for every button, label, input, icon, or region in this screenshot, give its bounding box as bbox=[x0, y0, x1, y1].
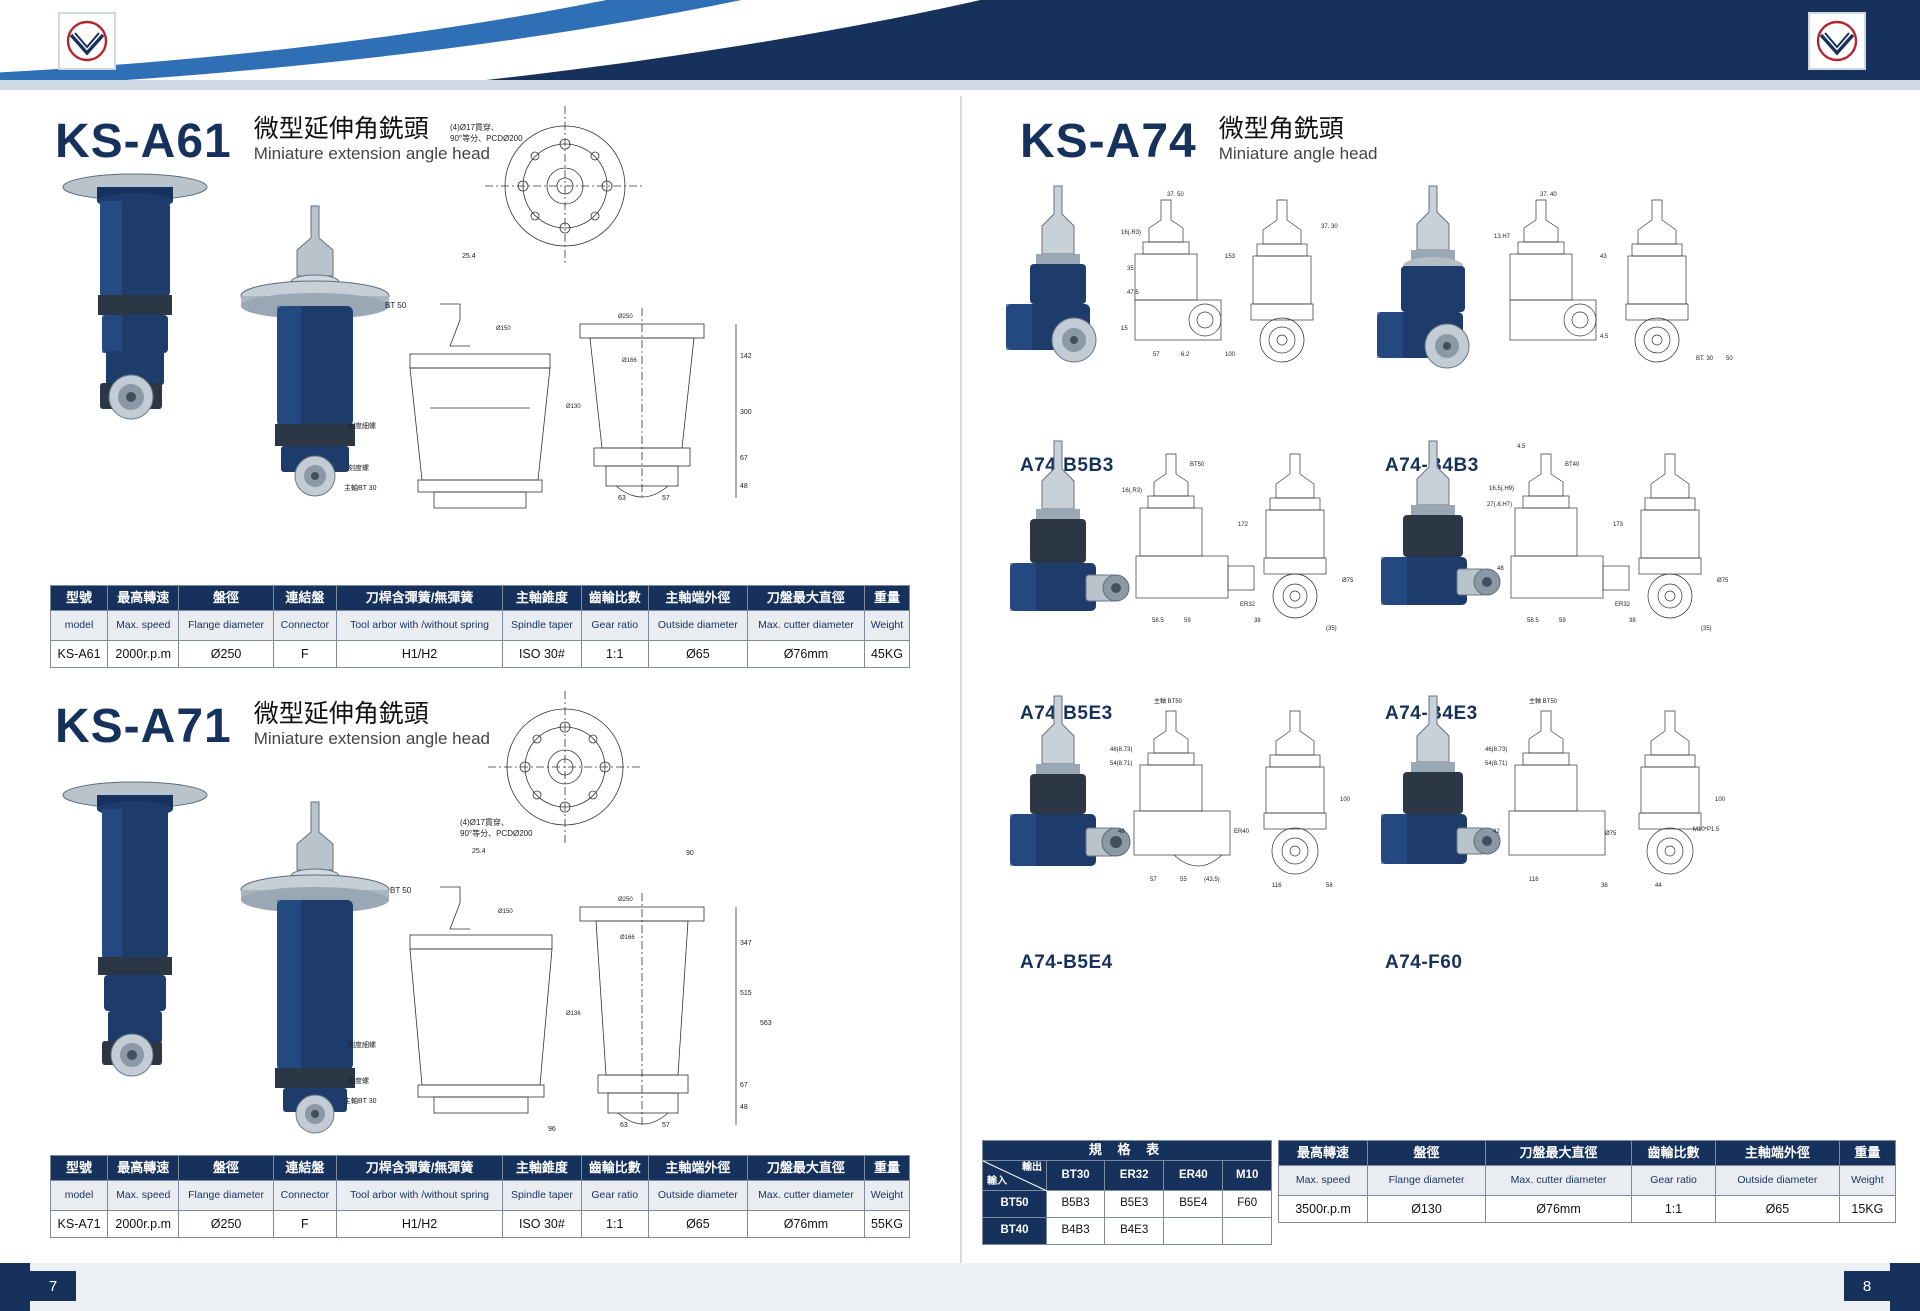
th-en-0: model bbox=[51, 1181, 108, 1211]
th-cn-2: 盤徑 bbox=[179, 1156, 273, 1181]
td-4: H1/H2 bbox=[336, 1211, 502, 1238]
product-heading-ks-a74: KS-A74 微型角銑頭 Miniature angle head bbox=[1020, 115, 1378, 166]
table-header-row-en: Max. speed Flange diameter Max. cutter d… bbox=[1279, 1166, 1896, 1196]
th-cn-7: 主軸端外徑 bbox=[648, 586, 747, 611]
svg-text:38: 38 bbox=[1601, 883, 1608, 889]
svg-text:46(8.73): 46(8.73) bbox=[1485, 747, 1507, 753]
td-0: KS-A61 bbox=[51, 641, 108, 668]
svg-text:主軸 BT50: 主軸 BT50 bbox=[1529, 697, 1558, 705]
svg-text:Ø75: Ø75 bbox=[1342, 578, 1354, 584]
page-number-left: 7 bbox=[30, 1271, 76, 1301]
th-en-4: Tool arbor with /without spring bbox=[336, 1181, 502, 1211]
td-9: 55KG bbox=[864, 1211, 909, 1238]
product-title-en: Miniature angle head bbox=[1219, 144, 1378, 164]
technical-drawing-a74-b5b3: 37. 50 16(.R3) 35 47.5 15 57 6.2 153 100… bbox=[1125, 198, 1375, 393]
table-row: BT40 B4B3 B4E3 bbox=[983, 1217, 1272, 1244]
svg-text:50: 50 bbox=[1726, 356, 1733, 362]
matrix-row-head-0: BT50 bbox=[983, 1190, 1047, 1217]
svg-text:Ø250: Ø250 bbox=[618, 897, 633, 903]
left-page: KS-A61 微型延伸角銑頭 Miniature extension angle… bbox=[0, 90, 960, 1270]
svg-text:59: 59 bbox=[1184, 618, 1191, 624]
th-en-8: Max. cutter diameter bbox=[747, 611, 864, 641]
table-header-row-cn: 最高轉速 盤徑 刀盤最大直徑 齒輪比數 主軸端外徑 重量 bbox=[1279, 1141, 1896, 1166]
product-code: KS-A71 bbox=[55, 703, 232, 751]
product-photo-ks-a61-left bbox=[40, 165, 230, 460]
matrix-cell-0-2: B5E4 bbox=[1164, 1190, 1223, 1217]
technical-drawing-a74-f60: 主軸 BT50 46(8.73) 54(8.71) 42 Ø75 116 M10… bbox=[1505, 705, 1755, 910]
table-row: BT50 B5B3 B5E3 B5E4 F60 bbox=[983, 1190, 1272, 1217]
td-2: Ø250 bbox=[179, 1211, 273, 1238]
product-photo-a74-b5e4 bbox=[990, 690, 1135, 910]
svg-text:90°等分、PCDØ200: 90°等分、PCDØ200 bbox=[460, 828, 533, 838]
td-4: Ø65 bbox=[1716, 1196, 1840, 1223]
th-cn-2: 刀盤最大直徑 bbox=[1485, 1141, 1631, 1166]
spec-table-ks-a61: 型號 最高轉速 盤徑 連結盤 刀桿含彈簧/無彈簧 主軸錐度 齒輪比數 主軸端外徑… bbox=[50, 585, 910, 668]
matrix-col-3: M10 bbox=[1223, 1160, 1272, 1190]
svg-text:16(.R3): 16(.R3) bbox=[1122, 488, 1142, 494]
technical-drawing-ks-a61: (4)Ø17貫穿、 90°等分、PCDØ200 25.4 BT 50 刻度細螺 … bbox=[440, 108, 840, 513]
th-en-6: Gear ratio bbox=[581, 1181, 648, 1211]
matrix-col-0: BT30 bbox=[1047, 1160, 1105, 1190]
th-en-0: model bbox=[51, 611, 108, 641]
svg-text:90: 90 bbox=[686, 850, 694, 857]
matrix-cell-1-0: B4B3 bbox=[1047, 1217, 1105, 1244]
svg-text:54(8.71): 54(8.71) bbox=[1110, 761, 1132, 767]
th-cn-7: 主軸端外徑 bbox=[648, 1156, 747, 1181]
product-heading-ks-a61: KS-A61 微型延伸角銑頭 Miniature extension angle… bbox=[55, 115, 490, 166]
svg-text:35: 35 bbox=[1127, 266, 1134, 272]
td-1: 2000r.p.m bbox=[108, 641, 179, 668]
matrix-cell-1-3 bbox=[1223, 1217, 1272, 1244]
matrix-title: 規 格 表 bbox=[983, 1141, 1272, 1161]
th-cn-3: 連結盤 bbox=[273, 586, 336, 611]
svg-text:ER32: ER32 bbox=[1615, 602, 1631, 608]
svg-text:(43.5): (43.5) bbox=[1204, 877, 1220, 883]
header-band bbox=[0, 0, 1920, 90]
svg-text:4.5: 4.5 bbox=[1600, 334, 1609, 340]
svg-text:Ø75: Ø75 bbox=[1717, 578, 1729, 584]
table-header-row-en: model Max. speed Flange diameter Connect… bbox=[51, 1181, 910, 1211]
svg-text:46(8.73): 46(8.73) bbox=[1110, 747, 1132, 753]
spec-matrix-table: 規 格 表 輸入 輸出 BT30 ER32 ER40 M10 BT50 B5B3… bbox=[982, 1140, 1272, 1245]
th-cn-5: 主軸錐度 bbox=[503, 586, 581, 611]
matrix-cell-0-3: F60 bbox=[1223, 1190, 1272, 1217]
svg-text:57: 57 bbox=[662, 1122, 670, 1129]
svg-text:(35): (35) bbox=[1701, 626, 1712, 632]
th-cn-8: 刀盤最大直徑 bbox=[747, 1156, 864, 1181]
th-en-2: Flange diameter bbox=[179, 611, 273, 641]
td-1: Ø130 bbox=[1368, 1196, 1486, 1223]
product-photo-a74-b5b3 bbox=[990, 180, 1130, 395]
svg-text:90°等分、PCDØ200: 90°等分、PCDØ200 bbox=[450, 133, 523, 143]
svg-text:(35): (35) bbox=[1326, 626, 1337, 632]
svg-text:63: 63 bbox=[618, 495, 626, 502]
svg-text:刻度螺: 刻度螺 bbox=[348, 463, 369, 472]
product-photo-ks-a71-left bbox=[40, 775, 230, 1110]
th-en-2: Max. cutter diameter bbox=[1485, 1166, 1631, 1196]
table-header-row-en: model Max. speed Flange diameter Connect… bbox=[51, 611, 910, 641]
svg-text:57: 57 bbox=[662, 495, 670, 502]
th-en-3: Connector bbox=[273, 1181, 336, 1211]
th-cn-2: 盤徑 bbox=[179, 586, 273, 611]
td-3: 1:1 bbox=[1632, 1196, 1716, 1223]
technical-drawing-a74-b5e3: BT50 16(.R3) ER32 58.5 59 172 38 Ø75 (35… bbox=[1130, 450, 1380, 655]
svg-text:6.2: 6.2 bbox=[1181, 352, 1190, 358]
th-en-5: Weight bbox=[1839, 1166, 1895, 1196]
page-number-right: 8 bbox=[1844, 1271, 1890, 1301]
svg-text:Ø250: Ø250 bbox=[618, 314, 633, 320]
svg-text:刻度細螺: 刻度細螺 bbox=[348, 1040, 376, 1049]
table-row: KS-A71 2000r.p.m Ø250 F H1/H2 ISO 30# 1:… bbox=[51, 1211, 910, 1238]
table-row: KS-A61 2000r.p.m Ø250 F H1/H2 ISO 30# 1:… bbox=[51, 641, 910, 668]
matrix-header-row: 輸入 輸出 BT30 ER32 ER40 M10 bbox=[983, 1160, 1272, 1190]
svg-text:Ø130: Ø130 bbox=[566, 404, 581, 410]
svg-text:4.5: 4.5 bbox=[1517, 444, 1526, 450]
th-cn-6: 齒輪比數 bbox=[581, 1156, 648, 1181]
footer-band bbox=[0, 1263, 1920, 1311]
matrix-cell-1-2 bbox=[1164, 1217, 1223, 1244]
svg-text:BT. 30: BT. 30 bbox=[1696, 356, 1714, 362]
svg-text:16(.R3): 16(.R3) bbox=[1121, 230, 1141, 236]
th-en-7: Outside diameter bbox=[648, 1181, 747, 1211]
th-cn-5: 主軸錐度 bbox=[503, 1156, 581, 1181]
td-0: 3500r.p.m bbox=[1279, 1196, 1368, 1223]
svg-text:BT 50: BT 50 bbox=[390, 886, 412, 895]
th-en-9: Weight bbox=[864, 1181, 909, 1211]
th-cn-9: 重量 bbox=[864, 586, 909, 611]
table-header-row-cn: 型號 最高轉速 盤徑 連結盤 刀桿含彈簧/無彈簧 主軸錐度 齒輪比數 主軸端外徑… bbox=[51, 586, 910, 611]
svg-text:25.4: 25.4 bbox=[472, 848, 486, 855]
product-photo-a74-b4e3 bbox=[1355, 435, 1505, 655]
svg-text:48: 48 bbox=[1118, 829, 1125, 835]
svg-text:67: 67 bbox=[740, 455, 748, 462]
th-en-0: Max. speed bbox=[1279, 1166, 1368, 1196]
product-photo-a74-f60 bbox=[1355, 690, 1505, 910]
th-cn-4: 刀桿含彈簧/無彈簧 bbox=[336, 586, 502, 611]
th-cn-3: 連結盤 bbox=[273, 1156, 336, 1181]
svg-text:42: 42 bbox=[1493, 829, 1500, 835]
td-8: Ø76mm bbox=[747, 641, 864, 668]
svg-text:主軸 BT50: 主軸 BT50 bbox=[1154, 697, 1183, 705]
td-2: Ø250 bbox=[179, 641, 273, 668]
product-code: KS-A74 bbox=[1020, 118, 1197, 166]
product-title-cn: 微型角銑頭 bbox=[1219, 115, 1378, 144]
technical-drawing-a74-b4b3: 37. 40 13.H7 43 4.5 BT. 30 50 bbox=[1500, 198, 1750, 393]
th-en-4: Outside diameter bbox=[1716, 1166, 1840, 1196]
td-9: 45KG bbox=[864, 641, 909, 668]
svg-text:54(8.71): 54(8.71) bbox=[1485, 761, 1507, 767]
th-cn-6: 齒輪比數 bbox=[581, 586, 648, 611]
th-en-1: Max. speed bbox=[108, 611, 179, 641]
logo-icon bbox=[65, 19, 109, 63]
svg-text:172: 172 bbox=[1238, 522, 1249, 528]
svg-text:38: 38 bbox=[1254, 618, 1261, 624]
product-photo-a74-b4b3 bbox=[1355, 180, 1505, 395]
svg-text:Ø136: Ø136 bbox=[566, 1011, 581, 1017]
svg-text:48: 48 bbox=[740, 1104, 748, 1111]
svg-text:58.5: 58.5 bbox=[1527, 618, 1539, 624]
product-code: KS-A61 bbox=[55, 118, 232, 166]
svg-text:44: 44 bbox=[1655, 883, 1662, 889]
th-cn-1: 最高轉速 bbox=[108, 586, 179, 611]
svg-text:(4)Ø17貫穿、: (4)Ø17貫穿、 bbox=[450, 122, 499, 132]
svg-text:Ø166: Ø166 bbox=[622, 358, 637, 364]
td-3: F bbox=[273, 1211, 336, 1238]
svg-text:142: 142 bbox=[740, 353, 752, 360]
header-underline bbox=[0, 80, 1920, 90]
svg-text:63: 63 bbox=[620, 1122, 628, 1129]
td-0: KS-A71 bbox=[51, 1211, 108, 1238]
svg-text:主軸BT 30: 主軸BT 30 bbox=[344, 1096, 377, 1105]
product-heading-ks-a71: KS-A71 微型延伸角銑頭 Miniature extension angle… bbox=[55, 700, 490, 751]
matrix-cell-0-1: B5E3 bbox=[1105, 1190, 1164, 1217]
company-logo-right bbox=[1808, 12, 1866, 70]
th-cn-1: 最高轉速 bbox=[108, 1156, 179, 1181]
svg-text:刻度螺: 刻度螺 bbox=[348, 1076, 369, 1085]
svg-text:43: 43 bbox=[1600, 254, 1607, 260]
svg-text:67: 67 bbox=[740, 1082, 748, 1089]
th-cn-4: 主軸端外徑 bbox=[1716, 1141, 1840, 1166]
th-en-2: Flange diameter bbox=[179, 1181, 273, 1211]
svg-text:Ø150: Ø150 bbox=[496, 326, 511, 332]
th-cn-0: 最高轉速 bbox=[1279, 1141, 1368, 1166]
svg-text:57: 57 bbox=[1153, 352, 1160, 358]
company-logo-left bbox=[58, 12, 116, 70]
spec-table-ks-a74: 最高轉速 盤徑 刀盤最大直徑 齒輪比數 主軸端外徑 重量 Max. speed … bbox=[1278, 1140, 1896, 1223]
td-5: ISO 30# bbox=[503, 641, 581, 668]
table-row: 3500r.p.m Ø130 Ø76mm 1:1 Ø65 15KG bbox=[1279, 1196, 1896, 1223]
matrix-title-row: 規 格 表 bbox=[983, 1141, 1272, 1161]
svg-text:100: 100 bbox=[1225, 352, 1236, 358]
th-en-5: Spindle taper bbox=[503, 1181, 581, 1211]
svg-text:116: 116 bbox=[1272, 883, 1282, 889]
svg-text:100: 100 bbox=[1715, 797, 1726, 803]
svg-text:ER32: ER32 bbox=[1240, 602, 1256, 608]
svg-text:47.5: 47.5 bbox=[1127, 290, 1139, 296]
svg-text:Ø150: Ø150 bbox=[498, 909, 513, 915]
svg-text:58: 58 bbox=[1326, 883, 1333, 889]
variant-label-a74-f60: A74-F60 bbox=[1385, 952, 1462, 974]
th-en-1: Flange diameter bbox=[1368, 1166, 1486, 1196]
th-en-4: Tool arbor with /without spring bbox=[336, 611, 502, 641]
svg-text:ER40: ER40 bbox=[1234, 829, 1250, 835]
td-3: F bbox=[273, 641, 336, 668]
td-4: H1/H2 bbox=[336, 641, 502, 668]
svg-text:主軸BT 30: 主軸BT 30 bbox=[344, 483, 377, 492]
svg-text:48: 48 bbox=[740, 483, 748, 490]
th-en-6: Gear ratio bbox=[581, 611, 648, 641]
th-en-8: Max. cutter diameter bbox=[747, 1181, 864, 1211]
td-1: 2000r.p.m bbox=[108, 1211, 179, 1238]
matrix-row-head-1: BT40 bbox=[983, 1217, 1047, 1244]
svg-text:(4)Ø17貫穿、: (4)Ø17貫穿、 bbox=[460, 817, 509, 827]
th-cn-0: 型號 bbox=[51, 1156, 108, 1181]
svg-text:25.4: 25.4 bbox=[462, 253, 476, 260]
svg-text:BT50: BT50 bbox=[1190, 462, 1205, 468]
th-cn-8: 刀盤最大直徑 bbox=[747, 586, 864, 611]
svg-text:153: 153 bbox=[1225, 254, 1236, 260]
svg-text:刻度細螺: 刻度細螺 bbox=[348, 421, 376, 430]
svg-text:58.5: 58.5 bbox=[1152, 618, 1164, 624]
svg-text:15: 15 bbox=[1121, 326, 1128, 332]
svg-text:55: 55 bbox=[1180, 877, 1187, 883]
th-cn-3: 齒輪比數 bbox=[1632, 1141, 1716, 1166]
spec-table-ks-a71: 型號 最高轉速 盤徑 連結盤 刀桿含彈簧/無彈簧 主軸錐度 齒輪比數 主軸端外徑… bbox=[50, 1155, 910, 1238]
td-2: Ø76mm bbox=[1485, 1196, 1631, 1223]
th-en-5: Spindle taper bbox=[503, 611, 581, 641]
product-photo-ks-a61-right bbox=[215, 198, 415, 503]
td-5: 15KG bbox=[1839, 1196, 1895, 1223]
product-photo-ks-a71-right bbox=[215, 798, 415, 1143]
svg-text:300: 300 bbox=[740, 409, 752, 416]
svg-text:57: 57 bbox=[1150, 877, 1157, 883]
th-cn-9: 重量 bbox=[864, 1156, 909, 1181]
td-7: Ø65 bbox=[648, 641, 747, 668]
matrix-cell-1-1: B4E3 bbox=[1105, 1217, 1164, 1244]
th-en-3: Connector bbox=[273, 611, 336, 641]
matrix-col-1: ER32 bbox=[1105, 1160, 1164, 1190]
svg-text:116: 116 bbox=[1529, 877, 1539, 883]
technical-drawing-a74-b5e4: 主軸 BT50 46(8.73) 54(8.71) ER40 57 55 (43… bbox=[1130, 705, 1380, 910]
svg-text:563: 563 bbox=[760, 1020, 772, 1027]
td-6: 1:1 bbox=[581, 641, 648, 668]
variant-label-a74-b5e4: A74-B5E4 bbox=[1020, 952, 1113, 974]
td-6: 1:1 bbox=[581, 1211, 648, 1238]
th-en-1: Max. speed bbox=[108, 1181, 179, 1211]
svg-text:M10*P1.5: M10*P1.5 bbox=[1693, 827, 1720, 833]
td-5: ISO 30# bbox=[503, 1211, 581, 1238]
svg-text:37. 50: 37. 50 bbox=[1167, 192, 1184, 198]
right-page: KS-A74 微型角銑頭 Miniature angle head bbox=[960, 90, 1920, 1270]
th-cn-5: 重量 bbox=[1839, 1141, 1895, 1166]
th-en-7: Outside diameter bbox=[648, 611, 747, 641]
svg-text:173: 173 bbox=[1613, 522, 1624, 528]
svg-text:38: 38 bbox=[1629, 618, 1636, 624]
product-photo-a74-b5e3 bbox=[990, 435, 1135, 655]
svg-text:16.5(.H9): 16.5(.H9) bbox=[1489, 486, 1514, 492]
footer-accent-left bbox=[0, 1263, 30, 1311]
th-cn-0: 型號 bbox=[51, 586, 108, 611]
matrix-corner-cell: 輸入 輸出 bbox=[983, 1160, 1047, 1190]
svg-text:96: 96 bbox=[548, 1126, 556, 1133]
th-cn-1: 盤徑 bbox=[1368, 1141, 1486, 1166]
td-8: Ø76mm bbox=[747, 1211, 864, 1238]
th-en-3: Gear ratio bbox=[1632, 1166, 1716, 1196]
td-7: Ø65 bbox=[648, 1211, 747, 1238]
table-header-row-cn: 型號 最高轉速 盤徑 連結盤 刀桿含彈簧/無彈簧 主軸錐度 齒輪比數 主軸端外徑… bbox=[51, 1156, 910, 1181]
footer-accent-right bbox=[1890, 1263, 1920, 1311]
svg-text:Ø166: Ø166 bbox=[620, 935, 635, 941]
svg-text:BT 50: BT 50 bbox=[385, 301, 407, 310]
svg-text:347: 347 bbox=[740, 940, 752, 947]
svg-text:13.H7: 13.H7 bbox=[1494, 234, 1511, 240]
svg-text:515: 515 bbox=[740, 990, 752, 997]
logo-icon bbox=[1815, 19, 1859, 63]
svg-text:BT40: BT40 bbox=[1565, 462, 1580, 468]
svg-text:37. 30: 37. 30 bbox=[1321, 224, 1338, 230]
svg-text:27(.8.H7): 27(.8.H7) bbox=[1487, 502, 1512, 508]
technical-drawing-a74-b4e3: 4.5 BT40 16.5(.H9) 27(.8.H7) ER32 58.5 5… bbox=[1505, 450, 1755, 655]
svg-text:59: 59 bbox=[1559, 618, 1566, 624]
matrix-corner-slash-icon bbox=[983, 1161, 1047, 1191]
svg-text:100: 100 bbox=[1340, 797, 1351, 803]
matrix-cell-0-0: B5B3 bbox=[1047, 1190, 1105, 1217]
technical-drawing-ks-a71: (4)Ø17貫穿、 90°等分、PCDØ200 25.4 BT 50 刻度細螺 … bbox=[440, 695, 840, 1150]
th-cn-4: 刀桿含彈簧/無彈簧 bbox=[336, 1156, 502, 1181]
svg-text:Ø75: Ø75 bbox=[1605, 831, 1617, 837]
th-en-9: Weight bbox=[864, 611, 909, 641]
svg-text:48: 48 bbox=[1497, 566, 1504, 572]
svg-text:37. 40: 37. 40 bbox=[1540, 192, 1557, 198]
matrix-col-2: ER40 bbox=[1164, 1160, 1223, 1190]
